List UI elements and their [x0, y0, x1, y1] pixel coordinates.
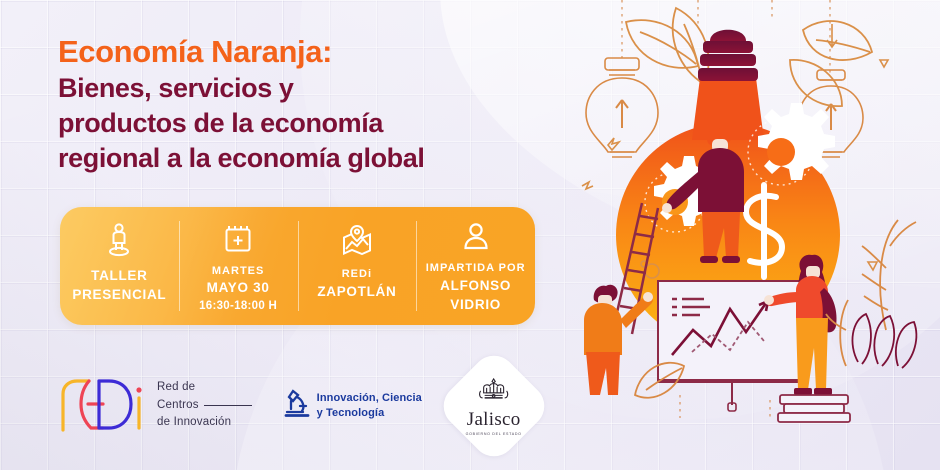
- info-line-1: IMPARTIDA POR: [426, 261, 526, 277]
- ict-logo: Innovación, Ciencia y Tecnología: [284, 388, 422, 423]
- page-subtitle-line-3: regional a la economía global: [58, 141, 578, 176]
- info-column-speaker: IMPARTIDA POR ALFONSO VIDRIO: [416, 207, 535, 325]
- page-subtitle-line-2: productos de la economía: [58, 106, 578, 141]
- ict-line-1: Innovación, Ciencia: [317, 391, 422, 406]
- info-text-date: MARTES MAYO 30 16:30-18:00 H: [199, 264, 277, 316]
- redi-line-3: de Innovación: [157, 414, 252, 432]
- user-icon: [463, 221, 489, 253]
- redi-logo: Red de Centros de Innovación: [55, 372, 252, 439]
- redi-rule: [204, 405, 252, 406]
- ict-line-2: y Tecnología: [317, 406, 422, 421]
- info-line-1: TALLER: [72, 267, 166, 286]
- calendar-plus-icon: [224, 221, 252, 256]
- ict-logo-text: Innovación, Ciencia y Tecnología: [317, 391, 422, 421]
- poster-content: Economía Naranja: Bienes, servicios y pr…: [0, 0, 600, 470]
- page-title-highlight: Economía Naranja:: [58, 34, 578, 71]
- info-line-3: 16:30-18:00 H: [199, 298, 277, 315]
- redi-logo-icon: [55, 372, 147, 439]
- info-column-modality: TALLER PRESENCIAL: [60, 207, 179, 325]
- jalisco-name: Jalisco: [466, 409, 522, 428]
- info-line-1: MARTES: [199, 264, 277, 280]
- microscope-icon: [284, 388, 310, 423]
- info-column-location: REDi ZAPOTLÁN: [298, 207, 417, 325]
- info-text-speaker: IMPARTIDA POR ALFONSO VIDRIO: [426, 261, 526, 315]
- jalisco-logo-inner: Jalisco GOBIERNO DEL ESTADO: [466, 376, 522, 435]
- page-subtitle-line-1: Bienes, servicios y: [58, 71, 578, 106]
- redi-line-2: Centros: [157, 397, 199, 415]
- info-text-modality: TALLER PRESENCIAL: [72, 267, 166, 305]
- redi-logo-text: Red de Centros de Innovación: [157, 379, 252, 432]
- jalisco-logo: Jalisco GOBIERNO DEL ESTADO: [434, 346, 553, 465]
- poster-canvas: Economía Naranja: Bienes, servicios y pr…: [0, 0, 940, 470]
- info-line-2: PRESENCIAL: [72, 286, 166, 305]
- jalisco-crest-icon: [476, 389, 512, 406]
- logo-strip: Red de Centros de Innovación: [55, 358, 555, 453]
- orange-economy-illustration: [580, 0, 940, 470]
- info-column-date: MARTES MAYO 30 16:30-18:00 H: [179, 207, 298, 325]
- info-text-location: REDi ZAPOTLÁN: [317, 267, 396, 302]
- map-pin-icon: [341, 221, 373, 259]
- title-block: Economía Naranja: Bienes, servicios y pr…: [58, 34, 578, 176]
- info-line-2: ALFONSO: [426, 277, 526, 296]
- jalisco-subtitle: GOBIERNO DEL ESTADO: [466, 431, 522, 435]
- info-line-2: ZAPOTLÁN: [317, 283, 396, 302]
- info-line-2: MAYO 30: [199, 279, 277, 298]
- person-standing-icon: [106, 221, 132, 259]
- info-line-1: REDi: [317, 267, 396, 283]
- redi-line-1: Red de: [157, 379, 252, 397]
- event-info-bar: TALLER PRESENCIAL MARTES MAYO 30 16:30-1…: [60, 207, 535, 325]
- info-line-3: VIDRIO: [426, 296, 526, 315]
